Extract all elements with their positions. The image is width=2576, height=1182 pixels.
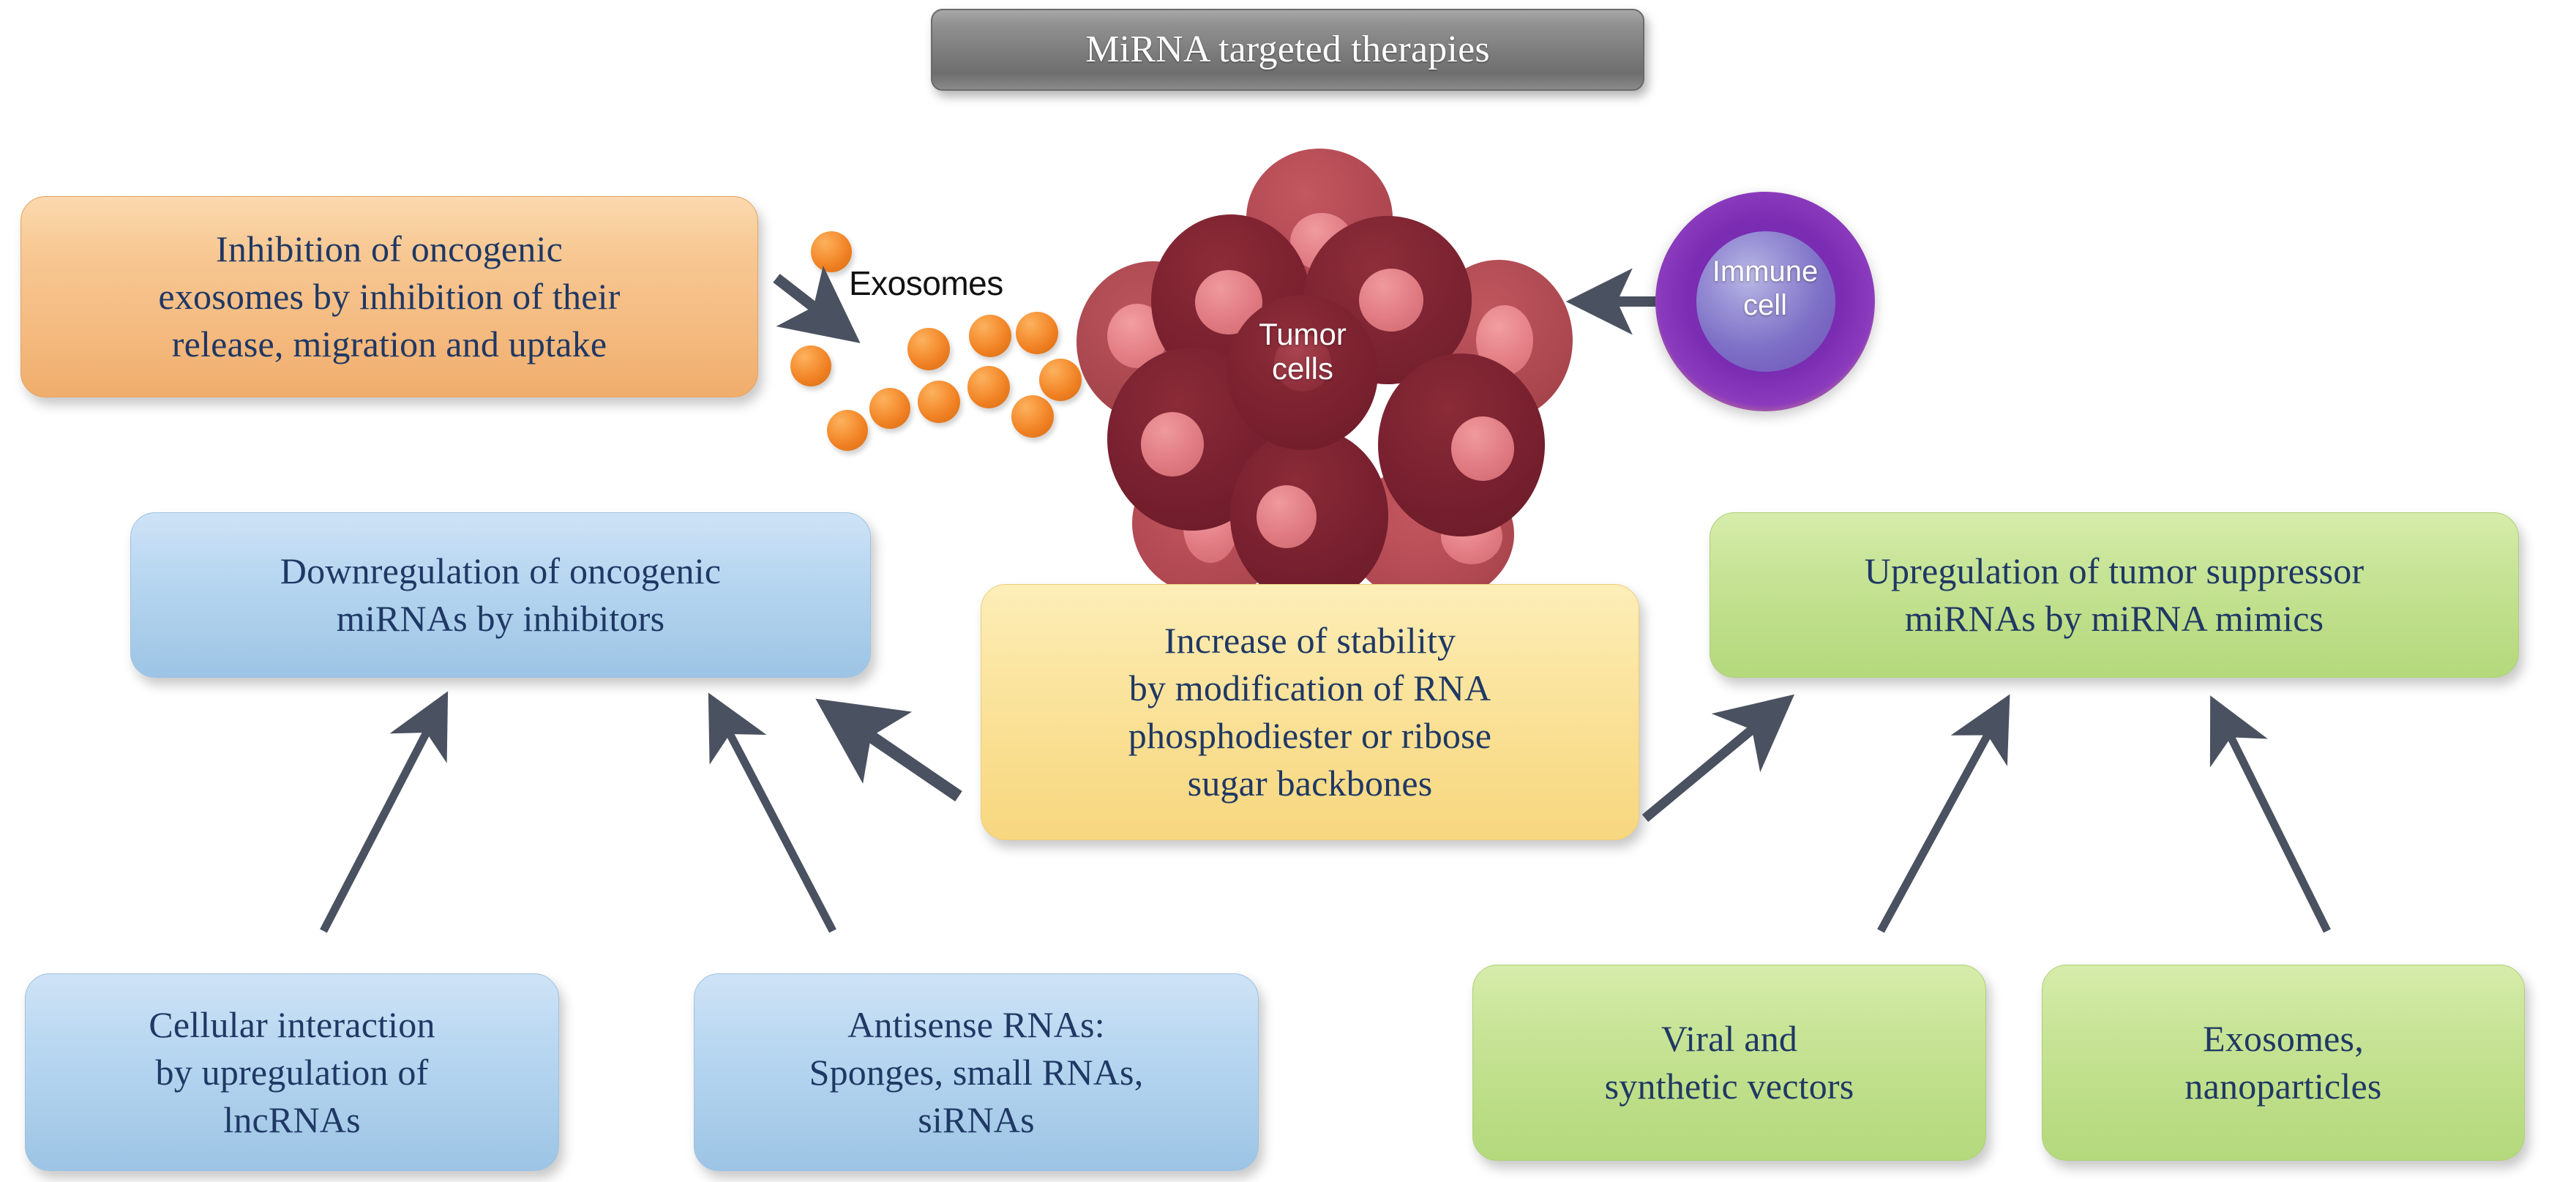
immune-to-tumor-arrow: [1566, 287, 1661, 316]
exosome-particle-icon: [1011, 395, 1054, 438]
exosome-particle-icon: [827, 410, 868, 451]
exosome-particle-icon: [790, 345, 831, 386]
exosome-particle-icon: [918, 381, 960, 423]
tumor-cell-icon: [1378, 354, 1545, 536]
exosomes-label: Exosomes: [849, 263, 1003, 303]
exosome-particle-icon: [907, 328, 950, 370]
inhibition-of-oncogenic-exosomes-label: Inhibition of oncogenic exosomes by inhi…: [34, 225, 744, 368]
exosome-particle-icon: [869, 388, 910, 429]
downregulation-of-oncogenic-mirnas-label: Downregulation of oncogenic miRNAs by in…: [144, 547, 857, 643]
diagram-title-box: MiRNA targeted therapies: [931, 9, 1644, 91]
tumor-cell-cluster-illustration: Tumor cells: [1065, 135, 1577, 604]
tumor-cell-icon: [1230, 428, 1388, 604]
upregulation-of-tumor-suppressor-mirnas-box: Upregulation of tumor suppressor miRNAs …: [1710, 512, 2519, 678]
antisense-rnas-box: Antisense RNAs: Sponges, small RNAs, siR…: [694, 973, 1259, 1171]
cellular-interaction-box: Cellular interaction by upregulation of …: [25, 973, 559, 1171]
exosomes-np-to-upregulation-arrow: [2181, 688, 2415, 944]
cellular-to-downregulation-arrow: [307, 688, 512, 944]
exosome-particle-icon: [969, 315, 1011, 357]
exosome-particle-icon: [967, 366, 1010, 408]
exosome-particle-icon: [1016, 312, 1058, 354]
diagram-title-label: MiRNA targeted therapies: [946, 25, 1630, 75]
increase-of-stability-label: Increase of stability by modification of…: [995, 617, 1625, 807]
tumor-cells-label: Tumor cells: [1227, 317, 1378, 386]
stability-to-upregulation-arrow: [1632, 688, 1800, 834]
downregulation-of-oncogenic-mirnas-box: Downregulation of oncogenic miRNAs by in…: [130, 512, 871, 678]
exosomes-nanoparticles-box: Exosomes, nanoparticles: [2042, 965, 2525, 1161]
antisense-rnas-label: Antisense RNAs: Sponges, small RNAs, siR…: [708, 1001, 1245, 1144]
viral-and-synthetic-vectors-box: Viral and synthetic vectors: [1472, 965, 1986, 1161]
inhibition-of-oncogenic-exosomes-box: Inhibition of oncogenic exosomes by inhi…: [20, 196, 758, 397]
exosome-particle-icon: [811, 231, 852, 272]
immune-cell-illustration: Immune cell: [1655, 192, 1875, 411]
viral-to-upregulation-arrow: [1859, 688, 2093, 944]
stability-to-downregulation-arrow: [814, 695, 967, 805]
exosomes-nanoparticles-label: Exosomes, nanoparticles: [2056, 1015, 2511, 1110]
upregulation-of-tumor-suppressor-mirnas-label: Upregulation of tumor suppressor miRNAs …: [1723, 547, 2505, 643]
diagram-canvas: MiRNA targeted therapies Inhibition of o…: [0, 0, 2576, 1182]
viral-and-synthetic-vectors-label: Viral and synthetic vectors: [1486, 1015, 1972, 1110]
antisense-to-downregulation-arrow: [644, 688, 849, 944]
increase-of-stability-box: Increase of stability by modification of…: [981, 584, 1639, 840]
cellular-interaction-label: Cellular interaction by upregulation of …: [39, 1001, 545, 1144]
immune-cell-label: Immune cell: [1655, 255, 1875, 322]
